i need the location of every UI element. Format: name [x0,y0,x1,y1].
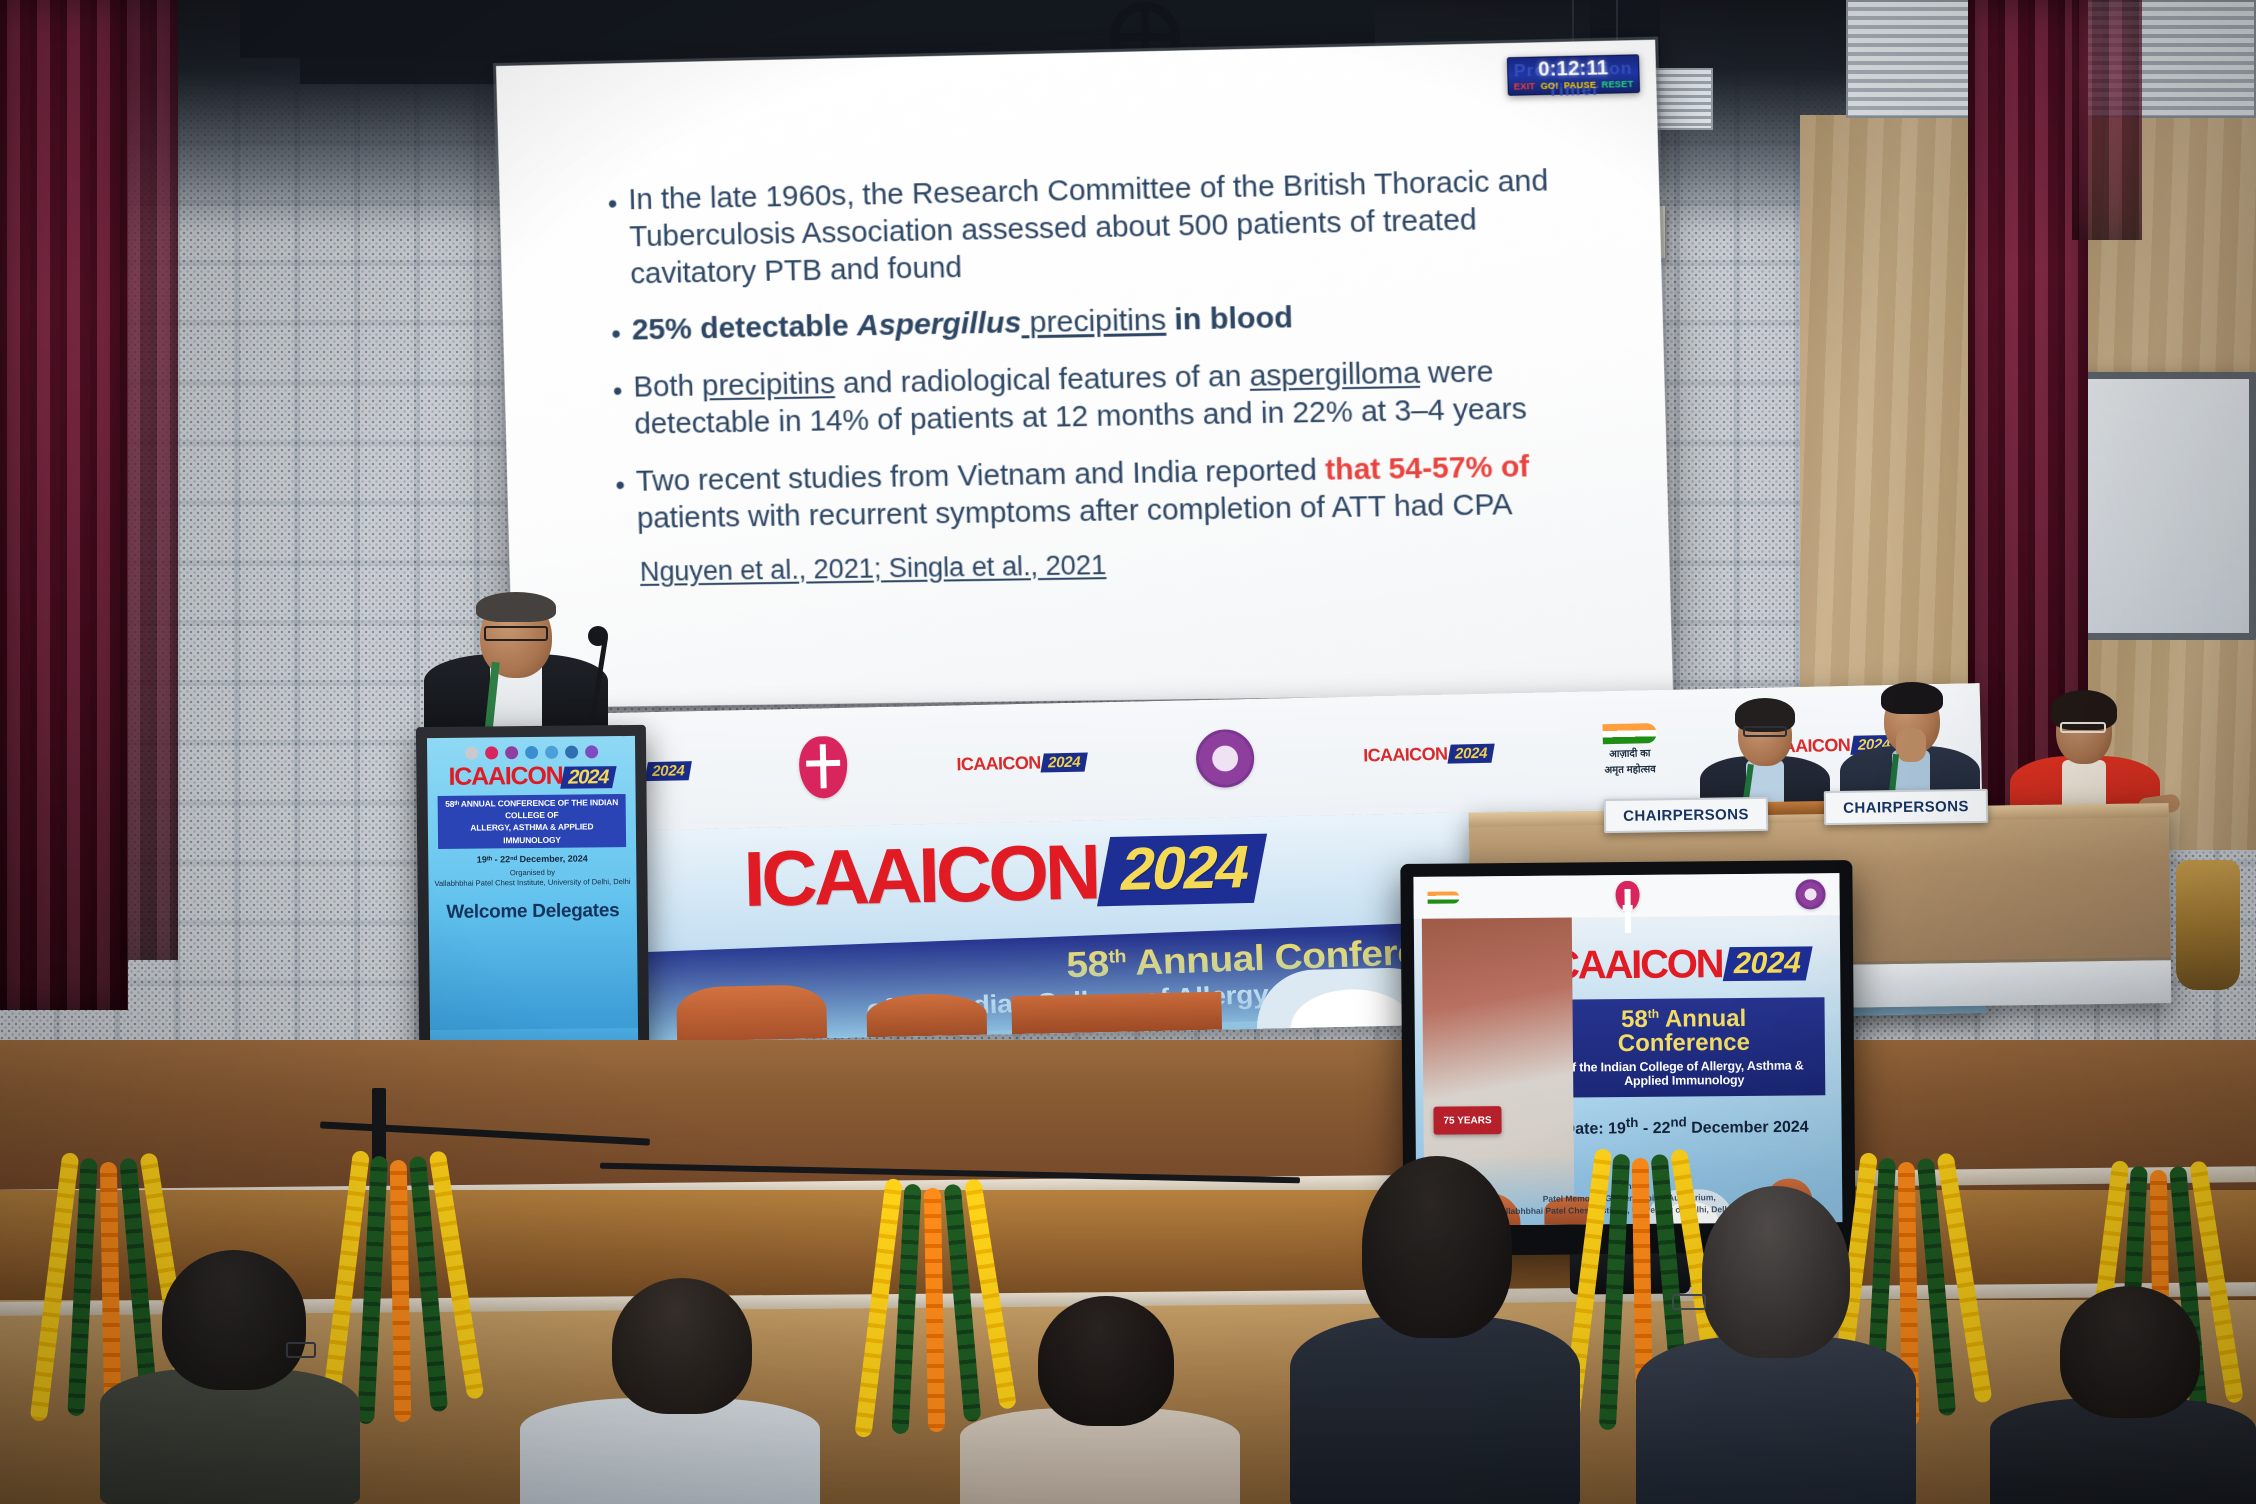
lectern-organiser-name: Vallabhbhai Patel Chest Institute, Unive… [428,877,636,889]
lectern-title-band: 58ᵗʰ ANNUAL CONFERENCE OF THE INDIAN COL… [438,794,627,849]
placard-chairpersons-right: CHAIRPERSONS [1824,789,1988,825]
stage-curtain-right-outer [2072,0,2142,240]
monitor-title-band: 58th Annual Conference of the Indian Col… [1542,997,1825,1097]
audience-member-5 [1636,1186,1916,1504]
decorative-brass-pot [2176,860,2240,990]
lectern-logo: ICAAICON2024 [427,763,635,790]
stage-curtain-left [0,0,128,1010]
audience-member-4 [1290,1156,1580,1504]
audience-5-hair [1702,1186,1850,1358]
audience-1-glasses-icon [286,1342,316,1358]
icaai-shield-icon [1615,881,1639,911]
lectern-organiser: Organised by Vallabhbhai Patel Chest Ins… [428,867,636,890]
red-fort-icon [1011,992,1222,1035]
slide-surface: Presentation Timer 0:12:11 EXIT GO! PAUS… [496,40,1673,708]
speaker-hair [476,592,556,622]
projection-screen[interactable]: Presentation Timer 0:12:11 EXIT GO! PAUS… [496,40,1673,708]
timer-go-button[interactable]: GO! [1540,80,1558,91]
audience-4-hair [1362,1156,1512,1338]
backdrop-chip-2: ICAAICON2024 [1363,742,1494,766]
backdrop-logo-text: ICAAICON [743,832,1098,918]
panel-2-raised-hand [1896,728,1926,762]
audience-5-body [1636,1336,1916,1504]
presentation-timer[interactable]: Presentation Timer 0:12:11 EXIT GO! PAUS… [1507,54,1640,96]
bullet-4-text: Two recent studies from Vietnam and Indi… [635,446,1610,537]
icaai-shield-icon [799,736,848,799]
audience-member-6 [1990,1286,2256,1504]
lectern-welcome-text: Welcome Delegates [429,900,637,924]
garland-strand-orange [924,1188,945,1432]
timer-pause-button[interactable]: PAUSE [1564,80,1597,91]
backdrop-chip-0: 2024 [646,761,691,781]
lectern-logo-icon-6 [565,746,578,759]
university-of-delhi-seal-icon [1795,879,1825,909]
azadi-amrit-mahotsav-logo: आज़ादी का अमृत महोत्सव [1602,723,1657,776]
backdrop-chip-1: ICAAICON2024 [956,751,1087,775]
audience-member-2 [520,1278,820,1504]
monitor-logo: ICAAICON 2024 [1542,943,1840,986]
amrit-line-2: अमृत महोत्सव [1604,761,1655,776]
lectern-logo-icon-5 [545,746,558,759]
backdrop-main-logo: ICAAICON 2024 [743,829,1262,918]
lectern-logo-icon-1 [465,747,478,760]
rashtrapati-bhavan-icon [676,984,827,1041]
wall-whiteboard [2064,372,2256,640]
slide-bullet-1: • In the late 1960s, the Research Commit… [607,161,1603,293]
badge-75-years: 75 YEARS [1433,1106,1501,1135]
audience-member-3 [960,1296,1240,1504]
bullet-dot-icon: • [611,321,621,348]
bullet-2-text: 25% detectable Aspergillus precipitins i… [631,299,1293,349]
monitor-date: Date: 19th - 22nd December 2024 [1563,1113,1841,1139]
lectern-logo-icon-7 [585,745,598,758]
amrit-line-1: आज़ादी का [1609,745,1650,760]
audience-5-glasses-icon [1672,1294,1706,1310]
lectern-logo-icon-3 [505,746,518,759]
slide-bullet-2: • 25% detectable Aspergillus precipitins… [611,294,1605,351]
slide-bullet-list: • In the late 1960s, the Research Commit… [607,161,1612,588]
garland-strand-orange [390,1160,412,1422]
monitor-logo-year: 2024 [1723,946,1813,981]
university-of-delhi-seal-icon [1195,729,1254,788]
lectern-band-line-1: 58ᵗʰ ANNUAL CONFERENCE OF THE INDIAN COL… [441,796,623,822]
stage-curtain-left-inner [120,0,178,960]
lectern-date: 19ᵗʰ - 22ⁿᵈ December, 2024 [428,853,636,865]
bullet-1-text: In the late 1960s, the Research Committe… [628,161,1604,293]
backdrop-logo-year: 2024 [1097,833,1268,906]
timer-reset-button[interactable]: RESET [1601,79,1633,90]
lectern-logo-row [427,736,635,760]
lectern-logo-icon-4 [525,746,538,759]
monitor-conference-number: 58th Annual Conference [1553,1006,1815,1056]
monitor-logo-strip [1413,873,1839,919]
tricolor-icon [1428,891,1460,903]
lectern-band-line-2: ALLERGY, ASTHMA & APPLIED IMMUNOLOGY [441,820,623,846]
speaker-glasses-icon [484,626,548,641]
auditorium-scene: Presentation Timer 0:12:11 EXIT GO! PAUS… [0,0,2256,1504]
bullet-dot-icon: • [613,378,623,405]
audience-4-body [1290,1316,1580,1504]
panel-1-glasses-icon [1743,726,1787,737]
audience-2-hair [612,1278,752,1414]
bullet-dot-icon: • [615,472,625,499]
placard-chairpersons-left: CHAIRPERSONS [1604,797,1768,833]
panel-3-glasses-icon [2060,722,2106,733]
podium-mic-head [588,626,608,646]
timer-exit-button[interactable]: EXIT [1514,81,1536,92]
monitor-subtitle: of the Indian College of Allergy, Asthma… [1553,1058,1815,1088]
bullet-3-text: Both precipitins and radiological featur… [633,351,1608,443]
audience-3-hair [1038,1296,1174,1426]
tricolor-icon [1602,723,1656,744]
parliament-icon [866,993,987,1038]
audience-6-hair [2060,1286,2200,1418]
audience-member-1 [100,1250,360,1504]
azadi-amrit-mahotsav-logo [1428,891,1460,903]
lectern-logo-icon-2 [485,746,498,759]
panel-2-hair [1881,682,1943,714]
slide-bullet-3: • Both precipitins and radiological feat… [612,351,1607,443]
slide-citation: Nguyen et al., 2021; Singla et al., 2021 [640,542,1612,588]
bullet-dot-icon: • [608,191,618,218]
timer-value: 0:12:11 [1513,57,1633,80]
slide-bullet-4: • Two recent studies from Vietnam and In… [615,446,1611,537]
audience-1-hair [162,1250,306,1390]
